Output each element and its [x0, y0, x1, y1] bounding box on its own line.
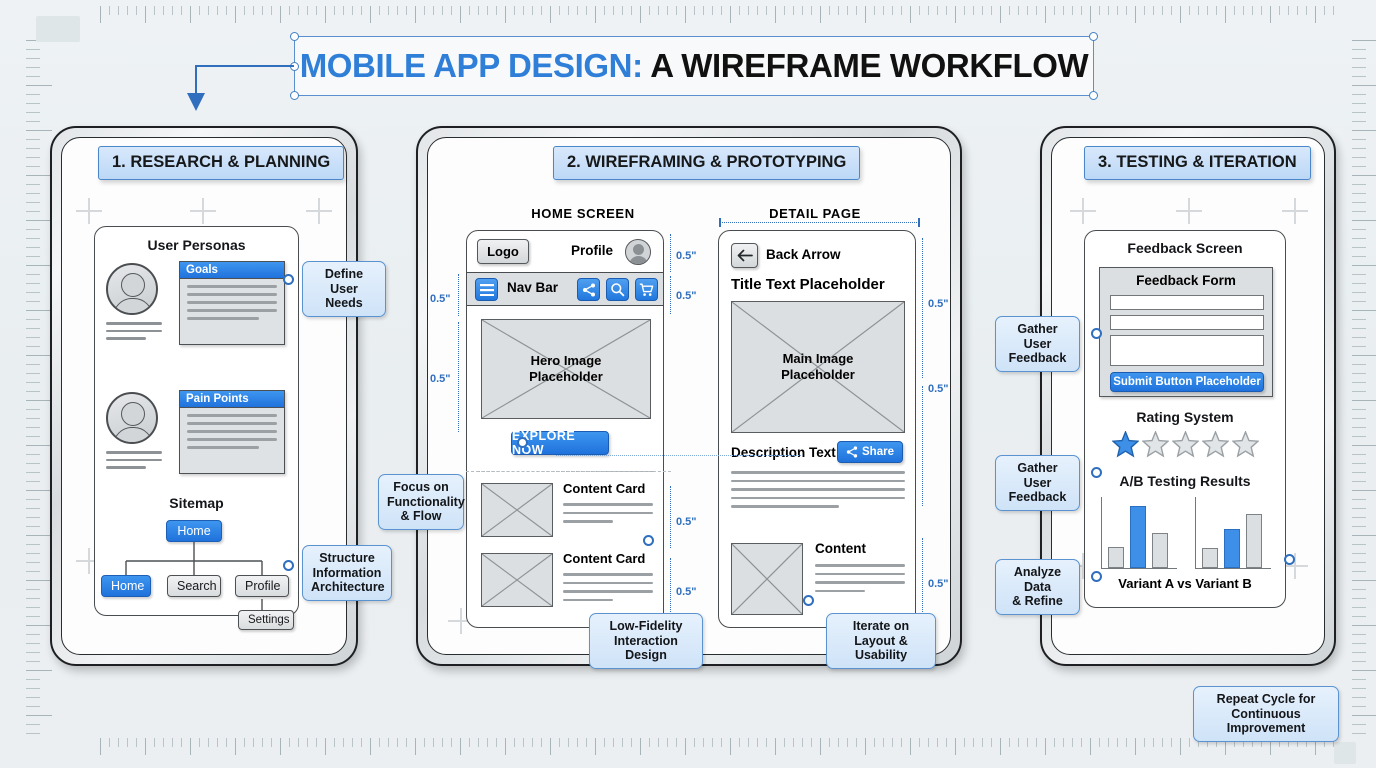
home-screen-title: HOME SCREEN — [468, 206, 698, 221]
selection-handle-tr[interactable] — [1089, 32, 1098, 41]
ruler-tick — [1117, 738, 1118, 747]
ruler-tick — [26, 67, 40, 68]
ruler-tick — [100, 6, 101, 23]
ruler-tick — [424, 6, 425, 15]
page-title: MOBILE APP DESIGN: A WIREFRAME WORKFLOW — [294, 36, 1094, 96]
ruler-tick — [1297, 6, 1298, 15]
ruler-tick — [955, 6, 956, 23]
callout-gather-feedback-2[interactable]: Gather UserFeedback — [995, 455, 1080, 511]
ruler-tick — [1352, 598, 1366, 599]
ruler-tick — [901, 6, 902, 15]
ruler-tick — [1162, 6, 1163, 15]
ruler-tick — [1027, 738, 1028, 747]
dimension-label: 0.5" — [430, 373, 451, 385]
dimension-label: 0.5" — [676, 290, 697, 302]
ruler-tick — [838, 6, 839, 15]
ruler-tick — [1352, 634, 1366, 635]
ruler-tick — [190, 738, 191, 755]
ruler-tick — [26, 49, 40, 50]
feedback-textarea[interactable] — [1110, 335, 1264, 366]
search-icon[interactable] — [606, 278, 629, 301]
ruler-tick — [1352, 382, 1366, 383]
ruler-tick — [199, 6, 200, 15]
dimension-label: 0.5" — [928, 298, 949, 310]
ruler-tick — [26, 211, 40, 212]
ruler-tick — [1009, 6, 1010, 15]
callout-iterate-layout[interactable]: Iterate onLayout & Usability — [826, 613, 936, 669]
ruler-tick — [1036, 738, 1037, 747]
ruler-tick — [1162, 738, 1163, 747]
ruler-tick — [1352, 364, 1366, 365]
callout-analyze-refine[interactable]: Analyze Data& Refine — [995, 559, 1080, 615]
ruler-tick — [577, 738, 578, 747]
persona-card-pain-points: Pain Points — [179, 390, 285, 474]
ruler-tick — [1000, 6, 1001, 23]
ruler-tick — [26, 337, 40, 338]
sitemap-node-search[interactable]: Search — [167, 575, 221, 597]
callout-focus-functionality[interactable]: Focus onFunctionality& Flow — [378, 474, 464, 530]
panel-wireframing-prototyping: HOME SCREEN DETAIL PAGE Logo Profile — [416, 126, 962, 666]
ruler-bottom — [0, 738, 1376, 764]
ruler-tick — [784, 738, 785, 747]
ruler-tick — [1352, 481, 1366, 482]
ruler-tick — [1315, 6, 1316, 23]
sitemap-node-profile[interactable]: Profile — [235, 575, 289, 597]
dimension-label: 0.5" — [928, 383, 949, 395]
ruler-tick — [26, 328, 40, 329]
ruler-tick — [334, 6, 335, 15]
ruler-tick — [316, 6, 317, 15]
ruler-tick — [1352, 67, 1366, 68]
ruler-tick — [1352, 508, 1366, 509]
ruler-tick — [505, 738, 506, 755]
ruler-tick — [613, 6, 614, 15]
ruler-right — [1352, 0, 1376, 768]
ruler-tick — [424, 738, 425, 747]
ruler-tick — [26, 706, 40, 707]
profile-label: Profile — [571, 243, 613, 258]
ruler-tick — [1352, 157, 1366, 158]
ruler-tick — [26, 166, 40, 167]
ruler-tick — [451, 6, 452, 15]
ruler-corner-box-2 — [1334, 742, 1356, 764]
ruler-tick — [1352, 562, 1366, 563]
ruler-tick — [235, 6, 236, 23]
ruler-tick — [316, 738, 317, 747]
ruler-tick — [1135, 738, 1136, 755]
ruler-tick — [26, 526, 40, 527]
ruler-tick — [1352, 445, 1376, 446]
callout-line: Analyze Data — [1004, 565, 1071, 594]
callout-anchor[interactable] — [283, 560, 294, 571]
ruler-tick — [766, 738, 767, 747]
ruler-tick — [892, 6, 893, 15]
ruler-tick — [298, 738, 299, 747]
ruler-tick — [26, 652, 40, 653]
ruler-tick — [145, 6, 146, 23]
registration-cross-icon — [1070, 198, 1096, 224]
ruler-tick — [730, 738, 731, 755]
ruler-tick — [748, 6, 749, 15]
ruler-tick — [334, 738, 335, 747]
ruler-tick — [1352, 301, 1366, 302]
ruler-tick — [649, 738, 650, 747]
ruler-tick — [649, 6, 650, 15]
ruler-tick — [26, 607, 40, 608]
ruler-tick — [1352, 427, 1366, 428]
ruler-tick — [1352, 346, 1366, 347]
panel2-screen: HOME SCREEN DETAIL PAGE Logo Profile — [427, 137, 951, 655]
ruler-tick — [1352, 499, 1366, 500]
ruler-tick — [343, 738, 344, 747]
ruler-tick — [244, 6, 245, 15]
selection-handle-bl[interactable] — [290, 91, 299, 100]
ruler-tick — [26, 364, 40, 365]
ruler-tick — [487, 6, 488, 15]
feedback-form: Feedback Form Submit Button Placeholder — [1099, 267, 1273, 397]
ruler-tick — [703, 6, 704, 15]
ruler-tick — [550, 6, 551, 23]
ruler-tick — [1352, 40, 1376, 41]
ruler-tick — [478, 6, 479, 15]
ruler-tick — [118, 738, 119, 747]
callout-repeat-cycle[interactable]: Repeat Cycle forContinuous Improvement — [1193, 686, 1339, 742]
ruler-tick — [253, 6, 254, 15]
ruler-tick — [991, 738, 992, 747]
ruler-tick — [208, 6, 209, 15]
ruler-tick — [505, 6, 506, 23]
content-card-title: Content Card — [563, 481, 653, 496]
ruler-tick — [1054, 6, 1055, 15]
callout-anchor[interactable] — [283, 274, 294, 285]
callout-line: Define — [311, 267, 377, 282]
ruler-tick — [1352, 625, 1376, 626]
ruler-tick — [478, 738, 479, 747]
dimension-label: 0.5" — [676, 516, 697, 528]
selection-handle-ml[interactable] — [290, 62, 299, 71]
ruler-tick — [26, 715, 52, 716]
ruler-tick — [802, 738, 803, 747]
ruler-tick — [397, 738, 398, 747]
panel-testing-iteration: Feedback Screen Feedback Form Submit But… — [1040, 126, 1336, 666]
page-title-blue: MOBILE APP DESIGN: — [300, 47, 643, 84]
ruler-tick — [631, 6, 632, 15]
callout-anchor[interactable] — [643, 535, 654, 546]
stage-label-3[interactable]: 3. TESTING & ITERATION — [1084, 146, 1311, 180]
back-arrow-button[interactable] — [731, 243, 758, 268]
callout-anchor[interactable] — [1091, 467, 1102, 478]
main-image-label-2: Placeholder — [781, 367, 855, 383]
ruler-tick — [415, 6, 416, 23]
callout-anchor[interactable] — [1284, 554, 1295, 565]
ruler-tick — [721, 6, 722, 15]
callout-structure-ia[interactable]: StructureInformationArchitecture — [302, 545, 392, 601]
ruler-tick — [26, 382, 40, 383]
ruler-tick — [26, 247, 40, 248]
selection-handle-tl[interactable] — [290, 32, 299, 41]
hero-image-label-2: Placeholder — [529, 369, 603, 385]
ruler-tick — [982, 738, 983, 747]
dimension-label: 0.5" — [430, 293, 451, 305]
hamburger-menu-icon[interactable] — [475, 278, 498, 301]
ruler-tick — [1352, 580, 1376, 581]
ruler-tick — [1352, 139, 1366, 140]
share-button[interactable]: Share — [837, 441, 903, 463]
ruler-tick — [26, 373, 40, 374]
sitemap-node-root[interactable]: Home — [166, 520, 222, 542]
ruler-tick — [262, 738, 263, 747]
callout-anchor[interactable] — [517, 437, 528, 448]
ruler-tick — [1352, 193, 1366, 194]
persona-card-header: Pain Points — [180, 391, 284, 408]
ruler-tick — [1018, 6, 1019, 15]
star-icon[interactable] — [1142, 431, 1169, 458]
star-icon[interactable] — [1112, 431, 1139, 458]
ruler-tick — [874, 738, 875, 747]
ruler-tick — [622, 6, 623, 15]
ruler-tick — [514, 738, 515, 747]
ruler-tick — [1306, 6, 1307, 15]
ruler-tick — [532, 6, 533, 15]
page-title-black: A WIREFRAME WORKFLOW — [650, 47, 1088, 84]
ruler-tick — [676, 6, 677, 15]
hero-image-placeholder: Hero Image Placeholder — [481, 319, 651, 419]
ruler-tick — [1153, 6, 1154, 15]
ruler-tick — [26, 598, 40, 599]
ruler-tick — [127, 6, 128, 15]
callout-line: & Flow — [387, 509, 455, 524]
ruler-tick — [154, 6, 155, 15]
ruler-tick — [892, 738, 893, 747]
ruler-tick — [26, 580, 52, 581]
ruler-tick — [1171, 6, 1172, 15]
ruler-tick — [26, 499, 40, 500]
callout-define-user-needs[interactable]: DefineUser Needs — [302, 261, 386, 317]
ab-testing-title: A/B Testing Results — [1085, 473, 1285, 489]
ruler-tick — [352, 738, 353, 747]
ruler-tick — [262, 6, 263, 15]
ruler-tick — [26, 544, 40, 545]
ruler-tick — [26, 472, 40, 473]
stage-label-1[interactable]: 1. RESEARCH & PLANNING — [98, 146, 344, 180]
submit-button[interactable]: Submit Button Placeholder — [1110, 372, 1264, 392]
ruler-tick — [1352, 571, 1366, 572]
ruler-tick — [1279, 6, 1280, 15]
ruler-tick — [163, 6, 164, 15]
ruler-tick — [514, 6, 515, 15]
star-icon[interactable] — [1232, 431, 1259, 458]
ruler-tick — [406, 6, 407, 15]
ruler-tick — [460, 6, 461, 23]
ruler-tick — [1352, 211, 1366, 212]
ruler-tick — [217, 6, 218, 15]
ruler-tick — [325, 738, 326, 755]
ruler-tick — [1352, 355, 1376, 356]
ruler-tick — [1352, 58, 1366, 59]
ruler-tick — [919, 738, 920, 747]
ruler-tick — [1063, 6, 1064, 15]
ruler-tick — [1352, 670, 1376, 671]
ruler-tick — [1352, 130, 1376, 131]
ruler-tick — [802, 6, 803, 15]
ruler-tick — [1072, 6, 1073, 15]
ruler-tick — [964, 6, 965, 15]
ruler-tick — [730, 6, 731, 23]
ruler-tick — [1352, 283, 1366, 284]
ruler-tick — [694, 6, 695, 15]
ruler-tick — [721, 738, 722, 747]
feedback-input-1[interactable] — [1110, 295, 1264, 310]
callout-line: Feedback — [1004, 351, 1071, 366]
ruler-tick — [1352, 220, 1376, 221]
ruler-tick — [1352, 409, 1366, 410]
ruler-tick — [883, 6, 884, 15]
ruler-tick — [26, 562, 40, 563]
ruler-tick — [1352, 202, 1366, 203]
ruler-tick — [26, 589, 40, 590]
cart-glyph — [639, 283, 654, 297]
callout-gather-feedback-1[interactable]: Gather UserFeedback — [995, 316, 1080, 372]
dimension-label: 0.5" — [676, 250, 697, 262]
ruler-tick — [1352, 391, 1366, 392]
ruler-tick — [1352, 103, 1366, 104]
ruler-tick — [1352, 472, 1366, 473]
sitemap-node-home[interactable]: Home — [101, 575, 151, 597]
dimension-label: 0.5" — [676, 586, 697, 598]
callout-line: Functionality — [387, 495, 455, 510]
callout-low-fidelity[interactable]: Low-FidelityInteraction Design — [589, 613, 703, 669]
ruler-tick — [1234, 6, 1235, 15]
ruler-tick — [1216, 6, 1217, 15]
ruler-tick — [244, 738, 245, 747]
ruler-tick — [595, 6, 596, 23]
ruler-tick — [325, 6, 326, 23]
ruler-tick — [1090, 6, 1091, 23]
detail-page-title: DETAIL PAGE — [700, 206, 930, 221]
ruler-tick — [26, 517, 40, 518]
ruler-tick — [1352, 724, 1366, 725]
share-icon[interactable] — [577, 278, 600, 301]
panel1-wireframe-card: User Personas Goals — [94, 226, 299, 616]
feedback-input-2[interactable] — [1110, 315, 1264, 330]
ruler-tick — [1352, 463, 1366, 464]
registration-cross-icon — [1176, 198, 1202, 224]
ruler-tick — [829, 6, 830, 15]
ruler-tick — [26, 454, 40, 455]
ruler-tick — [26, 463, 40, 464]
page-title-text: MOBILE APP DESIGN: A WIREFRAME WORKFLOW — [300, 47, 1089, 85]
profile-avatar-icon[interactable] — [625, 239, 651, 265]
ruler-tick — [1352, 112, 1366, 113]
ruler-tick — [109, 738, 110, 747]
ruler-tick — [712, 6, 713, 15]
ruler-tick — [26, 184, 40, 185]
ruler-tick — [667, 738, 668, 747]
ruler-tick — [757, 738, 758, 747]
ruler-tick — [1135, 6, 1136, 23]
star-icon[interactable] — [1172, 431, 1199, 458]
share-button-label: Share — [862, 446, 894, 458]
ruler-tick — [26, 175, 52, 176]
ruler-tick — [568, 6, 569, 15]
ruler-tick — [190, 6, 191, 23]
ruler-tick — [1352, 607, 1366, 608]
star-icon[interactable] — [1202, 431, 1229, 458]
ruler-tick — [811, 738, 812, 747]
ruler-tick — [784, 6, 785, 15]
ruler-tick — [1288, 6, 1289, 15]
ruler-tick — [361, 738, 362, 747]
ruler-tick — [100, 738, 101, 755]
ruler-tick — [1153, 738, 1154, 747]
callout-anchor[interactable] — [1091, 328, 1102, 339]
ruler-top — [0, 6, 1376, 32]
ruler-tick — [793, 738, 794, 747]
ruler-tick — [1352, 517, 1366, 518]
ruler-tick — [1352, 589, 1366, 590]
avatar — [106, 392, 158, 444]
ruler-tick — [433, 6, 434, 15]
chart-bar — [1224, 529, 1240, 568]
ruler-tick — [379, 6, 380, 15]
panel3-wireframe-card: Feedback Screen Feedback Form Submit But… — [1084, 230, 1286, 608]
selection-handle-br[interactable] — [1089, 91, 1098, 100]
ruler-tick — [1000, 738, 1001, 755]
ruler-tick — [433, 738, 434, 747]
stage-label-2[interactable]: 2. WIREFRAMING & PROTOTYPING — [553, 146, 860, 180]
rating-stars[interactable] — [1085, 431, 1285, 458]
ruler-tick — [1180, 6, 1181, 23]
ruler-tick — [1171, 738, 1172, 747]
detail-title-placeholder: Title Text Placeholder — [731, 276, 885, 293]
callout-line: Gather User — [1004, 322, 1071, 351]
ruler-tick — [1045, 6, 1046, 23]
ruler-tick — [26, 436, 40, 437]
ruler-tick — [1225, 6, 1226, 23]
ruler-tick — [856, 738, 857, 747]
ruler-tick — [343, 6, 344, 15]
callout-anchor[interactable] — [803, 595, 814, 606]
ruler-tick — [1352, 706, 1366, 707]
logo-button[interactable]: Logo — [477, 239, 529, 264]
detail-page-wireframe: Back Arrow Title Text Placeholder Main I… — [718, 230, 916, 628]
ruler-tick — [271, 6, 272, 15]
ruler-tick — [388, 738, 389, 747]
ruler-tick — [775, 738, 776, 755]
feedback-screen-title: Feedback Screen — [1085, 240, 1285, 256]
sitemap-node-settings[interactable]: Settings — [238, 610, 294, 630]
ruler-tick — [541, 738, 542, 747]
ruler-tick — [586, 6, 587, 15]
ruler-tick — [739, 738, 740, 747]
ruler-tick — [26, 112, 40, 113]
ruler-tick — [748, 738, 749, 747]
ruler-tick — [26, 148, 40, 149]
ruler-tick — [595, 738, 596, 755]
cart-icon[interactable] — [635, 278, 658, 301]
ruler-tick — [406, 738, 407, 747]
ruler-tick — [1352, 94, 1366, 95]
ruler-tick — [586, 738, 587, 747]
callout-line: Gather User — [1004, 461, 1071, 490]
ruler-tick — [370, 738, 371, 755]
ruler-tick — [1352, 76, 1366, 77]
callout-anchor[interactable] — [1091, 571, 1102, 582]
ruler-corner-box — [36, 16, 80, 42]
ruler-tick — [1352, 688, 1366, 689]
persona-card-header: Goals — [180, 262, 284, 279]
ab-testing-chart — [1101, 497, 1271, 569]
